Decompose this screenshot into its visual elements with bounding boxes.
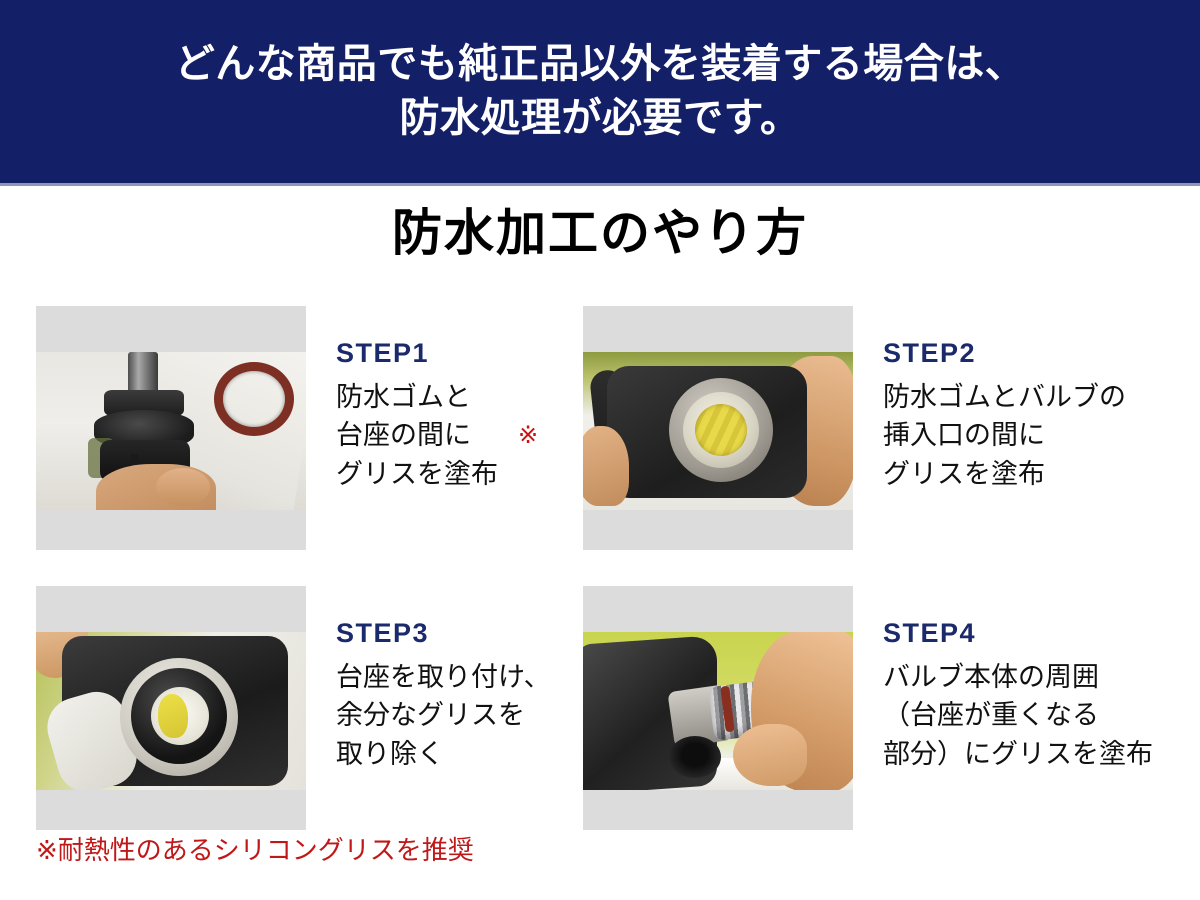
step-1-line-1: 防水ゴムと [336, 378, 498, 416]
step-item-3: STEP3 台座を取り付け、 余分なグリスを 取り除く [36, 586, 551, 830]
steps-grid: STEP1 防水ゴムと 台座の間に グリスを塗布 ※ [0, 300, 1200, 860]
step-2-line-3: グリスを塗布 [883, 455, 1126, 493]
step-1-photo [36, 352, 306, 510]
step-3-line-1: 台座を取り付け、 [336, 658, 551, 696]
step-4-line-1: バルブ本体の周囲 [883, 658, 1153, 696]
page-title: 防水加工のやり方 [0, 206, 1200, 261]
step-2-line-1: 防水ゴムとバルブの [883, 378, 1126, 416]
step-3-text: STEP3 台座を取り付け、 余分なグリスを 取り除く [336, 586, 551, 773]
asterisk-note-icon: ※ [518, 424, 538, 448]
step-1-photo-frame [36, 306, 306, 550]
step-1-text: STEP1 防水ゴムと 台座の間に グリスを塗布 ※ [336, 306, 498, 493]
banner-underline [0, 183, 1200, 186]
step-3-photo [36, 632, 306, 790]
step-3-photo-frame [36, 586, 306, 830]
header-banner: どんな商品でも純正品以外を装着する場合は、 防水処理が必要です。 [0, 0, 1200, 183]
step-1-line-3: グリスを塗布 [336, 455, 498, 493]
step-4-text: STEP4 バルブ本体の周囲 （台座が重くなる 部分）にグリスを塗布 [883, 586, 1153, 773]
step-4-photo-frame [583, 586, 853, 830]
grease-icon [158, 694, 188, 738]
step-2-text: STEP2 防水ゴムとバルブの 挿入口の間に グリスを塗布 [883, 306, 1126, 493]
grease-icon [695, 404, 747, 456]
step-item-2: STEP2 防水ゴムとバルブの 挿入口の間に グリスを塗布 [583, 306, 1126, 550]
step-3-line-3: 取り除く [336, 735, 551, 773]
step-4-line-3: 部分）にグリスを塗布 [883, 735, 1153, 773]
banner-line-2: 防水処理が必要です。 [400, 92, 801, 145]
step-3-heading: STEP3 [336, 620, 551, 647]
step-4-line-2: （台座が重くなる [883, 696, 1153, 734]
step-row-2: STEP3 台座を取り付け、 余分なグリスを 取り除く [0, 580, 1200, 860]
step-2-photo [583, 352, 853, 510]
rubber-oring-icon [214, 362, 294, 436]
step-2-photo-frame [583, 306, 853, 550]
step-4-photo [583, 632, 853, 790]
banner-line-1: どんな商品でも純正品以外を装着する場合は、 [175, 38, 1026, 91]
step-2-heading: STEP2 [883, 340, 1126, 367]
step-1-heading: STEP1 [336, 340, 498, 367]
step-3-line-2: 余分なグリスを [336, 696, 551, 734]
infographic-page: どんな商品でも純正品以外を装着する場合は、 防水処理が必要です。 防水加工のやり… [0, 0, 1200, 900]
step-2-line-2: 挿入口の間に [883, 416, 1126, 454]
step-item-1: STEP1 防水ゴムと 台座の間に グリスを塗布 ※ [36, 306, 498, 550]
step-1-line-2: 台座の間に [336, 416, 498, 454]
step-4-heading: STEP4 [883, 620, 1153, 647]
footnote: ※耐熱性のあるシリコングリスを推奨 [36, 835, 474, 866]
step-row-1: STEP1 防水ゴムと 台座の間に グリスを塗布 ※ [0, 300, 1200, 580]
step-item-4: STEP4 バルブ本体の周囲 （台座が重くなる 部分）にグリスを塗布 [583, 586, 1153, 830]
